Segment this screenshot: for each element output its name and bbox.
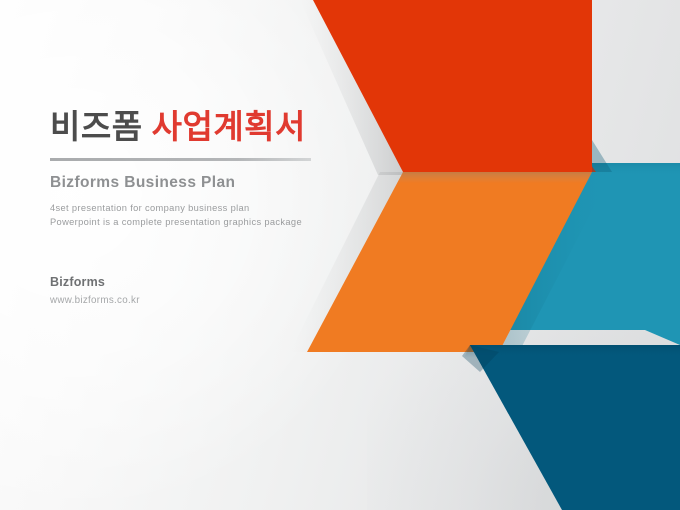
brand-name: Bizforms <box>50 275 350 289</box>
background-wedge <box>0 345 499 510</box>
title-divider <box>50 158 311 161</box>
brand-block: Bizforms www.bizforms.co.kr <box>50 275 350 306</box>
darkblue-chevron-body <box>470 345 680 510</box>
page-title: 비즈폼사업계획서 <box>50 108 350 147</box>
description-line-1: 4set presentation for company business p… <box>50 201 350 215</box>
description: 4set presentation for company business p… <box>50 201 350 230</box>
presentation-slide: 비즈폼사업계획서 Bizforms Business Plan 4set pre… <box>0 0 680 510</box>
slide-text-column: 비즈폼사업계획서 Bizforms Business Plan 4set pre… <box>50 108 350 306</box>
brand-url: www.bizforms.co.kr <box>50 295 350 306</box>
title-main-text: 비즈폼 <box>50 108 143 145</box>
red-on-orange-shadow <box>398 172 592 183</box>
description-line-2: Powerpoint is a complete presentation gr… <box>50 215 350 229</box>
title-accent-text: 사업계획서 <box>152 108 306 145</box>
subtitle: Bizforms Business Plan <box>50 174 350 192</box>
